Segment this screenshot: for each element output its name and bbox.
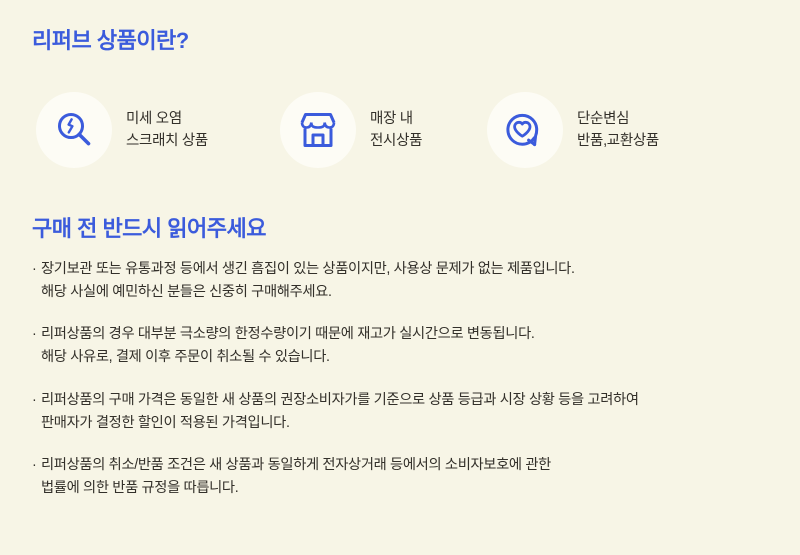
notice-1-line1: 장기보관 또는 유통과정 등에서 생긴 흠집이 있는 상품이지만, 사용상 문제…: [41, 261, 575, 277]
notice-item: ·장기보관 또는 유통과정 등에서 생긴 흠집이 있는 상품이지만, 사용상 문…: [32, 258, 768, 304]
feature-label-3-line2: 반품,교환상품: [577, 130, 659, 152]
bullet-dot: ·: [32, 258, 41, 281]
feature-label-3: 단순변심 반품,교환상품: [577, 108, 659, 153]
notice-item: ·리퍼상품의 경우 대부분 극소량의 한정수량이기 때문에 재고가 실시간으로 …: [32, 323, 768, 369]
feature-item-scratch: 미세 오염 스크래치 상품: [36, 92, 208, 168]
notice-item: ·리퍼상품의 취소/반품 조건은 새 상품과 동일하게 전자상거래 등에서의 소…: [32, 454, 768, 500]
notice-2-line1: 리퍼상품의 경우 대부분 극소량의 한정수량이기 때문에 재고가 실시간으로 변…: [41, 326, 535, 342]
notice-1-line2: 해당 사실에 예민하신 분들은 신중히 구매해주세요.: [32, 281, 768, 304]
notice-item: ·리퍼상품의 구매 가격은 동일한 새 상품의 권장소비자가를 기준으로 상품 …: [32, 389, 768, 435]
feature-label-2-line2: 전시상품: [370, 130, 422, 152]
notice-4-line2: 법률에 의한 반품 규정을 따릅니다.: [32, 477, 768, 500]
feature-label-1: 미세 오염 스크래치 상품: [126, 108, 208, 153]
refurbished-info-page: 리퍼브 상품이란? 미세 오염 스크래치 상품: [0, 0, 800, 555]
storefront-icon: [297, 110, 339, 150]
notice-2-line2: 해당 사유로, 결제 이후 주문이 취소될 수 있습니다.: [32, 346, 768, 369]
bullet-dot: ·: [32, 454, 41, 477]
feature-label-2: 매장 내 전시상품: [370, 108, 422, 153]
feature-badge-3: [487, 92, 563, 168]
feature-label-2-line1: 매장 내: [370, 108, 422, 130]
feature-item-store-display: 매장 내 전시상품: [280, 92, 422, 168]
feature-label-1-line2: 스크래치 상품: [126, 130, 208, 152]
notice-list: ·장기보관 또는 유통과정 등에서 생긴 흠집이 있는 상품이지만, 사용상 문…: [32, 258, 768, 500]
notice-3-line2: 판매자가 결정한 할인이 적용된 가격입니다.: [32, 412, 768, 435]
section-heading-what-is-refurbished: 리퍼브 상품이란?: [32, 28, 189, 54]
magnifier-scratch-icon: [53, 109, 95, 151]
feature-badge-1: [36, 92, 112, 168]
bullet-dot: ·: [32, 389, 41, 412]
feature-badge-2: [280, 92, 356, 168]
heart-return-icon: [504, 109, 546, 151]
section-heading-read-before-purchase: 구매 전 반드시 읽어주세요: [32, 216, 266, 242]
notice-3-line1: 리퍼상품의 구매 가격은 동일한 새 상품의 권장소비자가를 기준으로 상품 등…: [41, 392, 639, 408]
feature-label-3-line1: 단순변심: [577, 108, 659, 130]
feature-label-1-line1: 미세 오염: [126, 108, 208, 130]
feature-row: 미세 오염 스크래치 상품 매장 내: [32, 92, 772, 170]
notice-4-line1: 리퍼상품의 취소/반품 조건은 새 상품과 동일하게 전자상거래 등에서의 소비…: [41, 457, 551, 473]
bullet-dot: ·: [32, 323, 41, 346]
feature-item-change-of-mind: 단순변심 반품,교환상품: [487, 92, 659, 168]
